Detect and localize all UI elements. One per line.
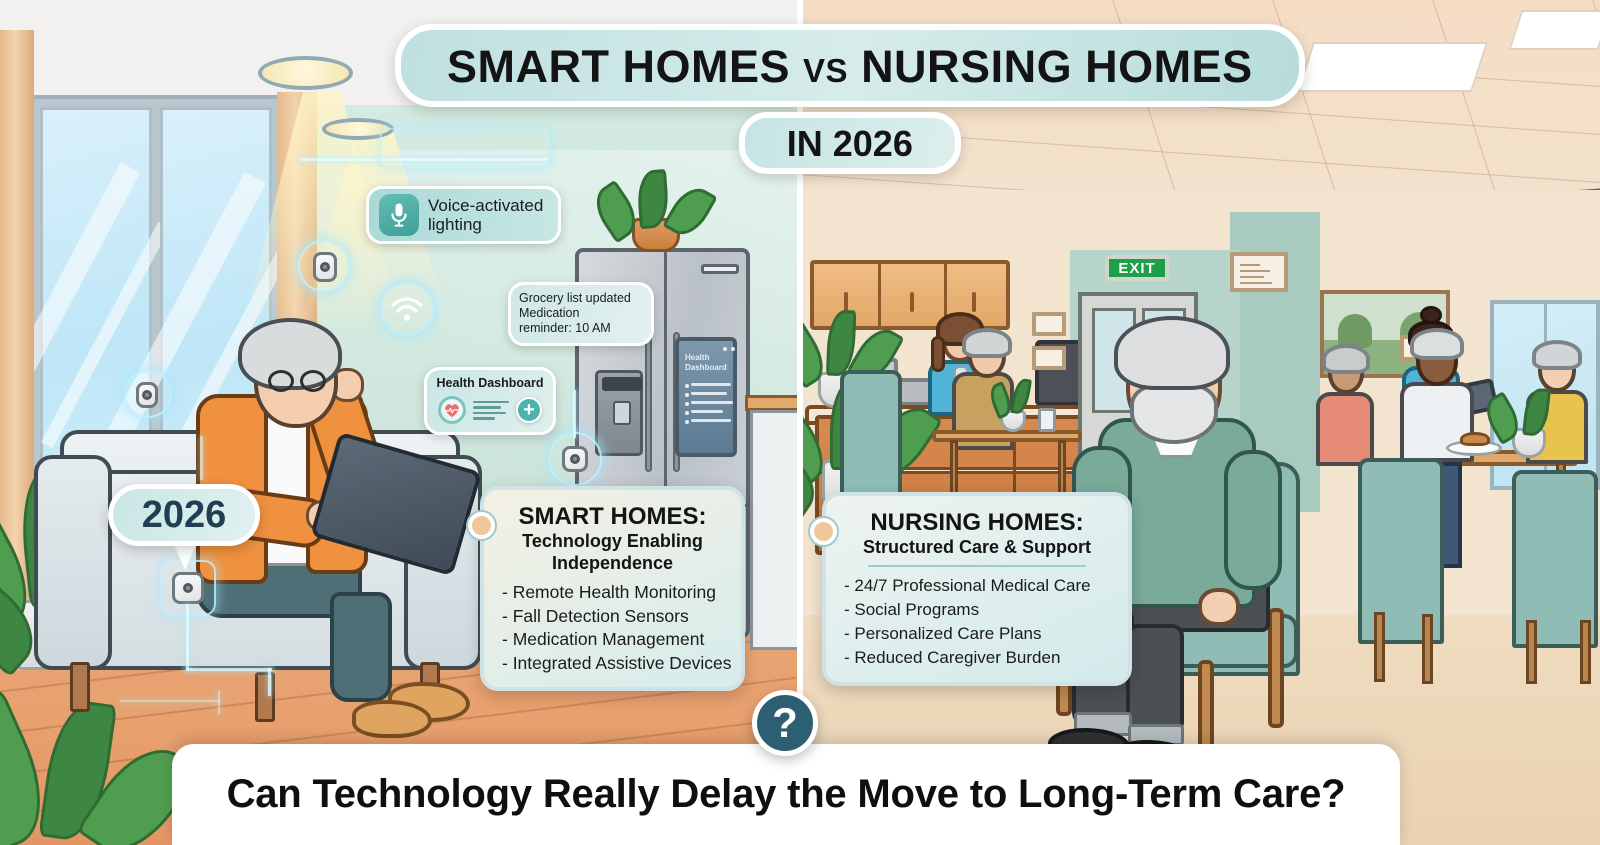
fall-detection-sensor[interactable] [172,572,204,604]
sensor-trace-3 [186,668,272,671]
microphone-icon [379,194,419,236]
armchair-back-leg [1198,660,1214,750]
wall-notice-2 [1032,346,1066,370]
wifi-icon [384,286,430,332]
nursing-homes-info-card: NURSING HOMES: Structured Care & Support… [822,492,1132,686]
diner3-hair [1322,344,1370,374]
fridge-smart-screen[interactable]: Health Dashboard [675,337,737,457]
diner1-hair [1410,328,1464,360]
smart-homes-card-subtitle-1: Technology Enabling [502,531,723,552]
resident-hair [962,328,1012,358]
food-bowl [1460,432,1490,446]
woman-shoe-2 [352,700,432,738]
title-vs: VS [803,52,848,89]
man-hand-right [1198,588,1240,626]
man-hair [1114,316,1230,390]
title-part-nursing-homes: NURSING HOMES [861,41,1253,92]
title-year: IN 2026 [787,126,913,162]
smart-homes-card-subtitle-2: Independence [502,553,723,574]
list-item: - Fall Detection Sensors [502,605,723,629]
callout-voice-activated-lighting[interactable]: Voice-activated lighting [366,186,561,244]
man-arm-right [1224,450,1282,590]
grocery-line-1: Grocery list updated [519,291,643,306]
smart-homes-card-title: SMART HOMES: [502,504,723,530]
callout-health-dashboard[interactable]: Health Dashboard + [424,367,556,435]
list-item: - Social Programs [844,598,1110,622]
wall-notice-1 [1032,312,1066,336]
fridge-screen-line1: Health [685,353,709,362]
nursing-homes-card-subtitle: Structured Care & Support [844,537,1110,558]
grocery-line-3: reminder: 10 AM [519,321,643,336]
cup [1038,408,1056,432]
health-dashboard-title: Health Dashboard [435,376,545,390]
glasses-lens-left [268,370,294,392]
diner2-hair [1532,340,1582,370]
callout-grocery-medication[interactable]: Grocery list updated Medication reminder… [508,282,654,346]
kitchen-counter [745,395,800,411]
sensor-trace-2 [186,604,189,670]
list-item: - 24/7 Professional Medical Care [844,574,1110,598]
fridge-screen-line2: Dashboard [685,363,727,372]
year-badge: 2026 [108,484,260,546]
grocery-line-2: Medication [519,306,643,321]
sensor-trace-5 [200,436,203,480]
wall-sensor-1[interactable] [313,252,337,282]
water-dispenser [595,370,643,456]
plus-icon[interactable]: + [516,397,542,423]
ceiling-panel-light-1 [1297,42,1488,92]
nursing-homes-feature-list: - 24/7 Professional Medical Care - Socia… [844,574,1110,670]
card-divider-rule [868,565,1086,567]
question-mark-glyph: ? [772,702,798,744]
sofa-leg-1 [70,662,90,712]
smart-homes-info-card: SMART HOMES: Technology Enabling Indepen… [480,486,745,691]
nursing-homes-card-title: NURSING HOMES: [844,510,1110,536]
page-title: SMART HOMES VS NURSING HOMES [447,44,1253,89]
year-badge-label: 2026 [142,494,227,537]
kitchen-cabinet [750,410,800,650]
armchair-front-leg-right [1268,608,1284,728]
exit-sign-label: EXIT [1118,260,1155,277]
exit-sign: EXIT [1105,255,1169,281]
list-item: - Integrated Assistive Devices [502,652,723,676]
man-beard [1130,382,1218,444]
light-strip-glow [380,128,550,168]
list-item: - Personalized Care Plans [844,622,1110,646]
card-anchor-dot-right [810,518,837,545]
man-shin-right [1126,624,1184,738]
sensor-trace-1 [573,390,576,438]
title-bar: SMART HOMES VS NURSING HOMES [395,24,1305,107]
left-panel-smart-home: Health Dashboard [0,0,800,845]
callout-voice-label: Voice-activated lighting [428,196,548,234]
floor-trace-1 [120,700,220,702]
sensor-trace-4 [268,668,271,696]
list-item: - Remote Health Monitoring [502,581,723,605]
infographic-canvas: Health Dashboard [0,0,1600,845]
ceiling-light-1 [258,56,353,90]
heart-pulse-icon [438,396,466,424]
glasses-lens-right [300,370,326,392]
sofa-arm-left [34,455,112,670]
title-part-smart-homes: SMART HOMES [447,41,790,92]
smart-homes-feature-list: - Remote Health Monitoring - Fall Detect… [502,581,723,675]
motion-sensor[interactable] [562,446,588,472]
title-subtitle-bar: IN 2026 [739,112,961,174]
list-item: - Reduced Caregiver Burden [844,646,1110,670]
nurse-ponytail [931,336,945,372]
text-lines-icon [473,401,509,420]
question-mark-badge: ? [752,690,818,756]
bottom-question-text: Can Technology Really Delay the Move to … [227,772,1346,817]
window-sensor[interactable] [136,382,158,408]
nurse2-bun [1420,306,1442,324]
title-group: SMART HOMES VS NURSING HOMES IN 2026 [395,24,1305,107]
card-anchor-dot-left [468,512,495,539]
wall-notice-board [1230,252,1288,292]
floor-trace-2 [218,690,220,714]
bottom-question-banner: Can Technology Really Delay the Move to … [172,744,1400,845]
sofa-leg-2 [255,672,275,722]
list-item: - Medication Management [502,628,723,652]
woman-shin [330,592,392,702]
diner3-shirt [1316,392,1374,466]
ceiling-panel-light-3 [1509,10,1600,50]
